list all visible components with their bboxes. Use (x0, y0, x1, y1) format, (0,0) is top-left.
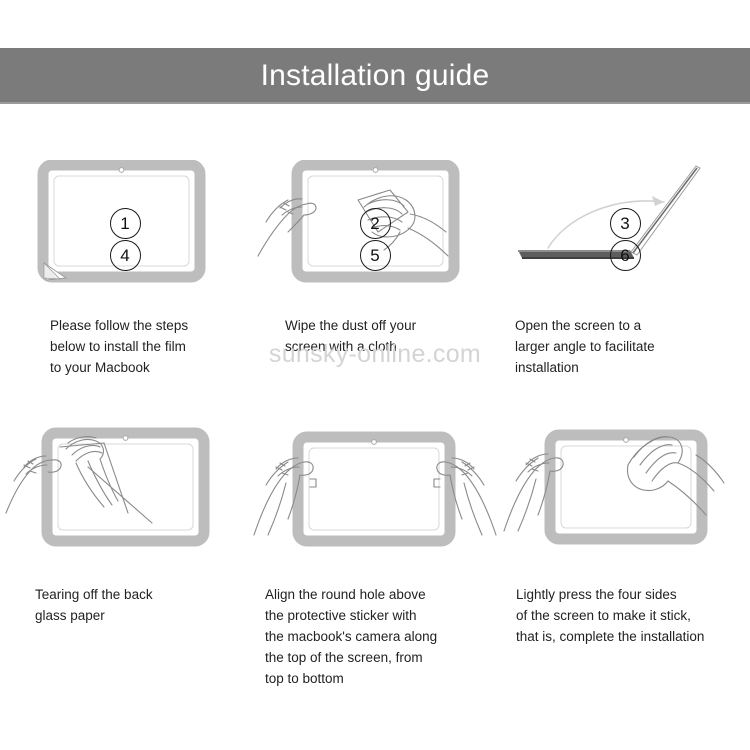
step-2-number-badge: 2 (250, 208, 500, 239)
header-banner: Installation guide (0, 48, 750, 104)
step-4-caption: Tearing off the back glass paper (35, 584, 250, 626)
step-1-number-badge: 1 (0, 208, 250, 239)
step-2-caption: Wipe the dust off your screen with a clo… (285, 315, 500, 357)
step-number: 6 (610, 240, 641, 271)
step-number: 1 (110, 208, 141, 239)
step-4-illustration (0, 427, 250, 572)
step-6-caption: Lightly press the four sides of the scre… (516, 584, 750, 647)
step-4-number-badge: 4 (0, 240, 250, 271)
step-6-number-badge: 6 (500, 240, 750, 271)
step-number: 2 (360, 208, 391, 239)
step-number: 5 (360, 240, 391, 271)
step-5-illustration (250, 427, 500, 572)
step-3-number-badge: 3 (500, 208, 750, 239)
step-3-caption: Open the screen to a larger angle to fac… (515, 315, 750, 378)
step-1-caption: Please follow the steps below to install… (50, 315, 250, 378)
step-4: Tearing off the back glass paper (0, 427, 250, 626)
step-5: Align the round hole above the protectiv… (250, 427, 500, 689)
installation-guide-page: Installation guide sunsky-online.com Ple… (0, 0, 750, 750)
step-number: 4 (110, 240, 141, 271)
page-title: Installation guide (261, 61, 490, 91)
step-6-illustration (500, 427, 750, 572)
step-6: Lightly press the four sides of the scre… (500, 427, 750, 647)
step-number: 3 (610, 208, 641, 239)
step-5-caption: Align the round hole above the protectiv… (265, 584, 500, 689)
step-5-number-badge: 5 (250, 240, 500, 271)
